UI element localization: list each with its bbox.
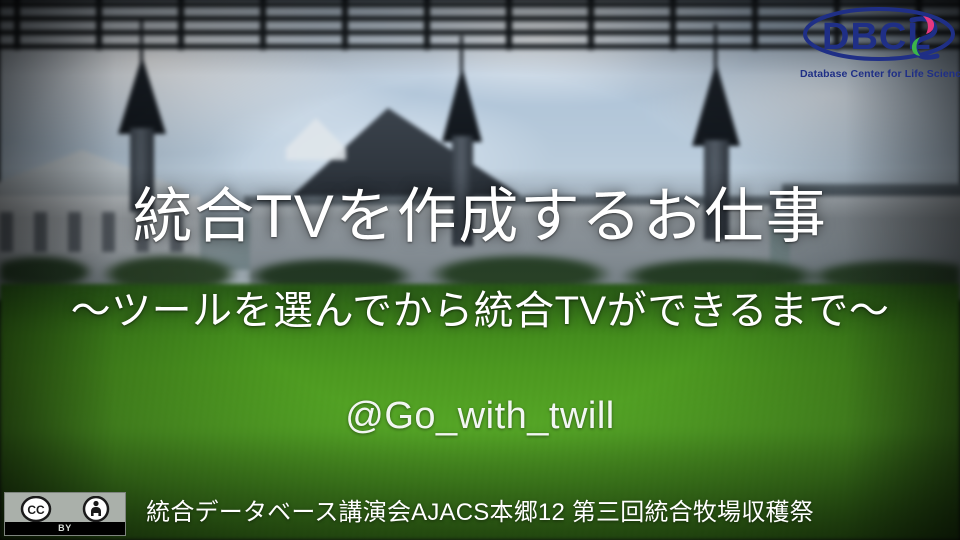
presentation-slide: DBCL Database Center for Life Science 統合… [0, 0, 960, 540]
page-title: 統合TVを作成するお仕事 [0, 181, 960, 253]
svg-text:CC: CC [27, 503, 45, 517]
dbcls-tagline: Database Center for Life Science [800, 68, 958, 80]
author-twitter-handle: @Go_with_twill [0, 392, 960, 440]
page-subtitle: 〜ツールを選んでから統合TVができるまで〜 [0, 285, 960, 337]
person-icon [81, 496, 111, 522]
cc-badge-icons: CC [5, 494, 125, 524]
cc-by-label: BY [5, 522, 125, 535]
creative-commons-badge[interactable]: CC BY [4, 492, 126, 536]
event-caption: 統合データベース講演会AJACS本郷12 第三回統合牧場収穫祭 [0, 498, 960, 528]
dbcls-logo[interactable]: DBCL Database Center for Life Science [800, 4, 958, 82]
cc-circle-icon: CC [19, 496, 53, 522]
dbcls-logo-mark: DBCL [800, 4, 958, 68]
